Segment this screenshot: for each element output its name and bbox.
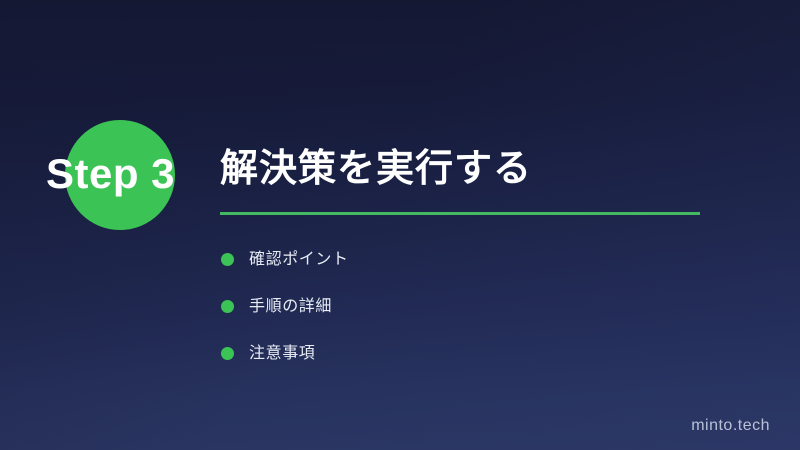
bullet-dot-icon — [221, 253, 234, 266]
headline-divider — [220, 212, 700, 215]
slide-headline: 解決策を実行する — [220, 145, 532, 193]
bullet-dot-icon — [221, 300, 234, 313]
footer-watermark: minto.tech — [691, 416, 770, 436]
list-item-label: 確認ポイント — [249, 250, 349, 270]
bullet-dot-icon — [221, 347, 234, 360]
list-item-label: 手順の詳細 — [249, 297, 332, 317]
list-item-label: 注意事項 — [249, 344, 315, 364]
step-badge-label: Step 3 — [46, 152, 175, 196]
list-item: 確認ポイント — [221, 236, 349, 283]
bullet-list: 確認ポイント 手順の詳細 注意事項 — [221, 236, 349, 377]
list-item: 手順の詳細 — [221, 283, 349, 330]
list-item: 注意事項 — [221, 330, 349, 377]
presentation-slide: Step 3 解決策を実行する 確認ポイント 手順の詳細 注意事項 minto.… — [0, 0, 800, 450]
